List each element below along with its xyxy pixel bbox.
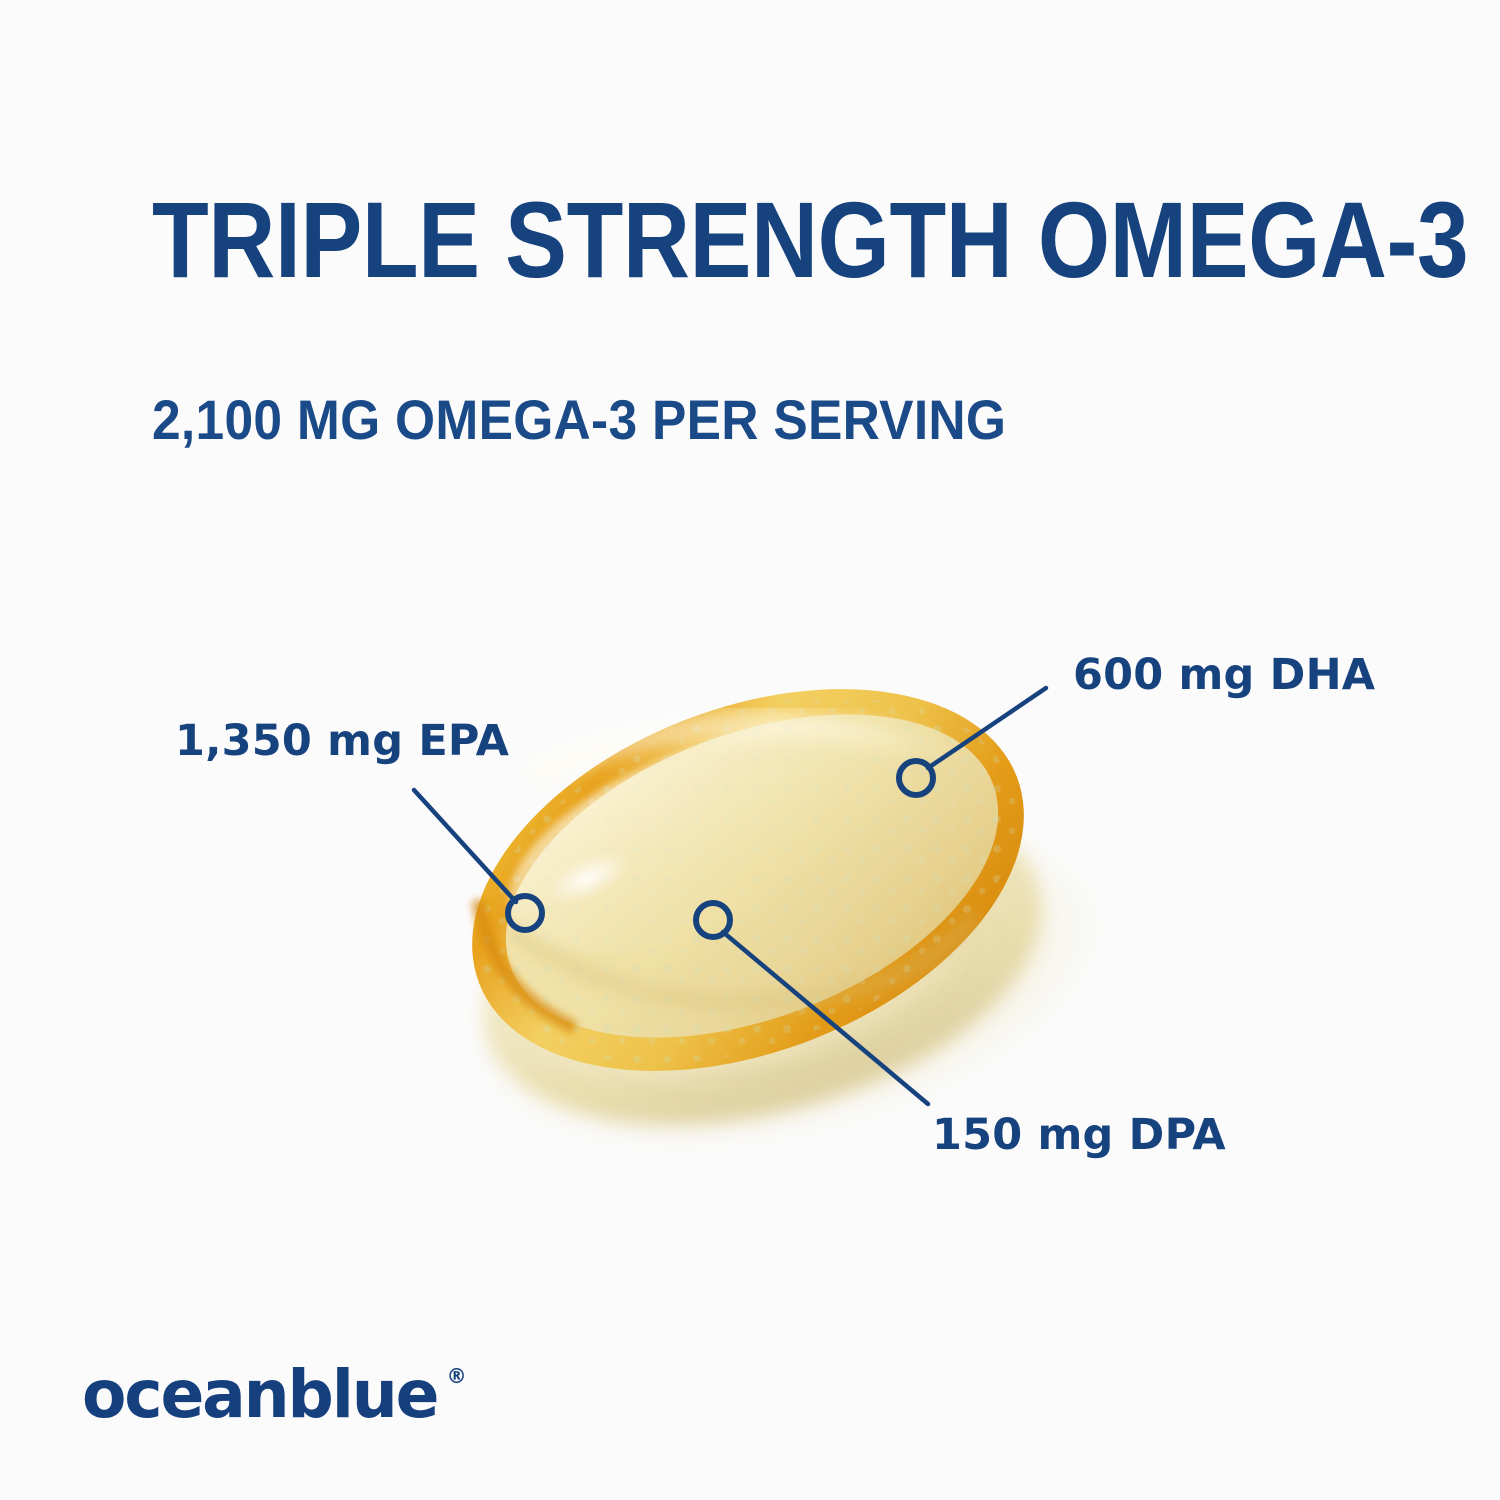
brand-wordmark: oceanblue xyxy=(82,1362,437,1428)
leader-marker-dha xyxy=(899,761,933,795)
page-subtitle: 2,100 MG OMEGA-3 PER SERVING xyxy=(152,392,1006,448)
callout-label-dha: 600 mg DHA xyxy=(1073,650,1375,700)
capsule-specular-highlight xyxy=(540,843,636,914)
product-infographic: TRIPLE STRENGTH OMEGA-3 2,100 MG OMEGA-3… xyxy=(0,0,1500,1500)
capsule-rim-accent xyxy=(478,900,575,1028)
capsule-sheen xyxy=(478,675,945,1001)
capsule-body xyxy=(460,651,1044,1101)
registered-trademark-icon: ® xyxy=(447,1366,467,1386)
leader-line-dha xyxy=(928,688,1046,768)
capsule-top-highlight xyxy=(540,724,968,778)
capsule-seam-shadow xyxy=(505,918,975,1002)
leader-line-dpa xyxy=(723,932,928,1104)
leader-line-epa xyxy=(414,790,516,902)
leader-marker-epa xyxy=(508,896,542,930)
leader-marker-dpa xyxy=(696,903,730,937)
callout-label-dpa: 150 mg DPA xyxy=(932,1110,1226,1160)
capsule-speckle xyxy=(460,700,1060,1080)
capsule-rim xyxy=(417,616,1078,1144)
page-title: TRIPLE STRENGTH OMEGA-3 xyxy=(152,186,1468,294)
headline-block: TRIPLE STRENGTH OMEGA-3 xyxy=(152,186,1500,294)
callout-label-epa: 1,350 mg EPA xyxy=(175,716,509,766)
brand-logo: oceanblue ® xyxy=(82,1362,467,1428)
